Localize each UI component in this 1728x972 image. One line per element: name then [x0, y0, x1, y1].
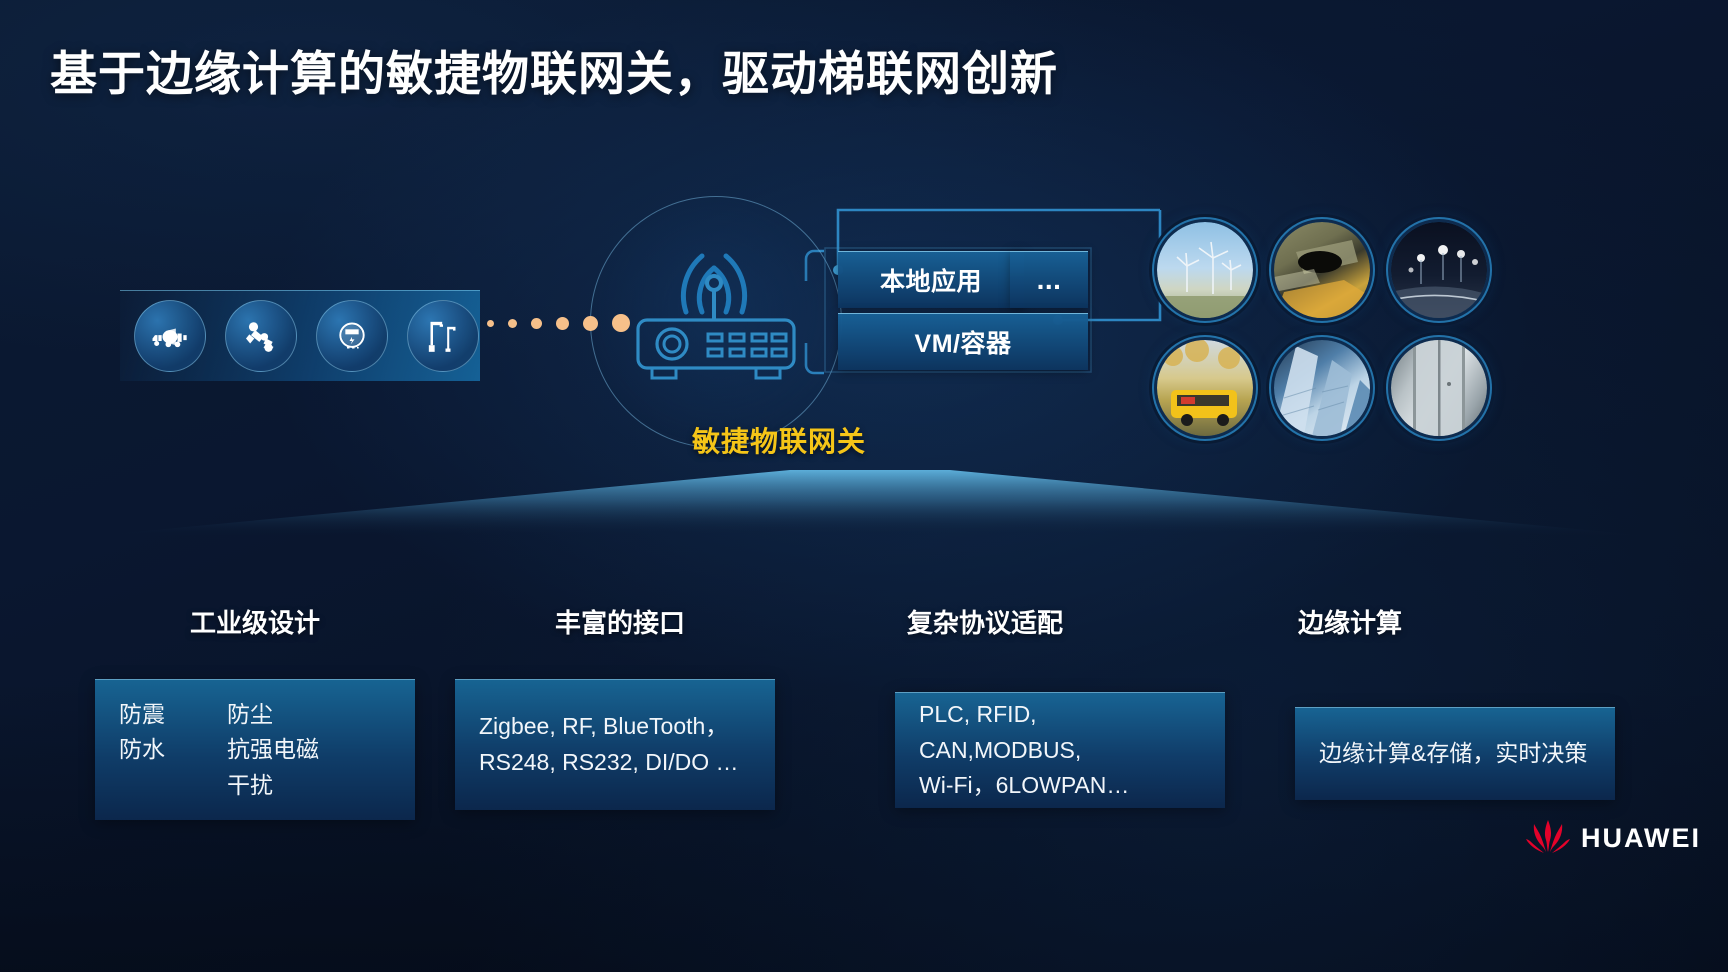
bus-glyph	[1157, 340, 1253, 436]
protocol-line: PLC, RFID, CAN,MODBUS,	[919, 697, 1201, 768]
slide-root: 基于边缘计算的敏捷物联网关，驱动梯联网创新	[0, 0, 1728, 972]
gateway-label: 敏捷物联网关	[692, 420, 866, 460]
mining-glyph	[1274, 222, 1370, 318]
city-skyscrapers-photo	[1274, 340, 1370, 436]
school-bus-photo	[1157, 340, 1253, 436]
feature-box-protocols: PLC, RFID, CAN,MODBUS, Wi-Fi，6LOWPAN…	[895, 692, 1225, 808]
vm-container-box[interactable]: VM/容器	[838, 313, 1088, 370]
edge-line: 边缘计算&存储，实时决策	[1319, 736, 1591, 772]
protocol-line: Wi-Fi，6LOWPAN…	[919, 768, 1201, 804]
wind-farm-photo	[1157, 222, 1253, 318]
cement-mixer-truck-icon	[134, 300, 206, 372]
buildings-glyph	[1274, 340, 1370, 436]
industrial-item: 防尘	[227, 697, 319, 733]
feature-heading-1: 工业级设计	[90, 603, 420, 640]
industrial-left-list: 防震 防水	[119, 697, 165, 804]
street-lights-glyph	[1391, 222, 1487, 318]
feature-heading-4: 边缘计算	[1185, 603, 1515, 640]
mining-machinery-photo	[1274, 222, 1370, 318]
connection-dots	[487, 314, 630, 332]
more-applications-box[interactable]: ...	[1010, 251, 1088, 308]
industrial-item: 干扰	[227, 768, 319, 804]
interface-line: RS248, RS232, DI/DO …	[479, 745, 751, 781]
huawei-flower-icon	[1525, 818, 1571, 858]
robotic-arm-icon	[225, 300, 297, 372]
street-lamp-icon	[407, 300, 479, 372]
feature-box-edge-computing: 边缘计算&存储，实时决策	[1295, 707, 1615, 800]
industrial-right-list: 防尘 抗强电磁 干扰	[227, 697, 319, 804]
night-street-lighting-photo	[1391, 222, 1487, 318]
elevator-photo	[1391, 340, 1487, 436]
industrial-item: 防水	[119, 732, 165, 768]
device-panel	[120, 290, 480, 381]
huawei-logo: HUAWEI	[1525, 818, 1701, 858]
feature-heading-2: 丰富的接口	[455, 603, 785, 640]
elevator-door-glyph	[1391, 340, 1487, 436]
wireless-router-icon	[616, 236, 816, 406]
fan-shape	[90, 470, 1650, 570]
industrial-item: 抗强电磁	[227, 732, 319, 768]
huawei-wordmark: HUAWEI	[1581, 823, 1701, 854]
feature-box-industrial-design: 防震 防水 防尘 抗强电磁 干扰	[95, 679, 415, 820]
wind-turbine-glyph	[1157, 222, 1253, 318]
feature-heading-3: 复杂协议适配	[820, 603, 1150, 640]
page-title: 基于边缘计算的敏捷物联网关，驱动梯联网创新	[50, 48, 1058, 100]
feature-box-interfaces: Zigbee, RF, BlueTooth， RS248, RS232, DI/…	[455, 679, 775, 810]
interface-line: Zigbee, RF, BlueTooth，	[479, 709, 751, 745]
industrial-item: 防震	[119, 697, 165, 733]
local-application-box[interactable]: 本地应用	[838, 251, 1024, 308]
electric-meter-icon	[316, 300, 388, 372]
